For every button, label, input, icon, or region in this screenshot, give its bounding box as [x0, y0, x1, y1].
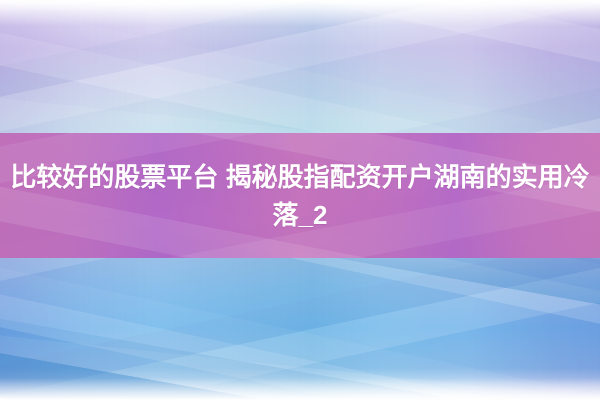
banner-image: 比较好的股票平台 揭秘股指配资开户湖南的实用冷落_2: [0, 0, 600, 400]
bottom-white-fade: [0, 378, 600, 400]
top-white-fade: [0, 0, 600, 26]
title-band: 比较好的股票平台 揭秘股指配资开户湖南的实用冷落_2: [0, 133, 600, 258]
banner-title: 比较好的股票平台 揭秘股指配资开户湖南的实用冷落_2: [2, 158, 598, 234]
